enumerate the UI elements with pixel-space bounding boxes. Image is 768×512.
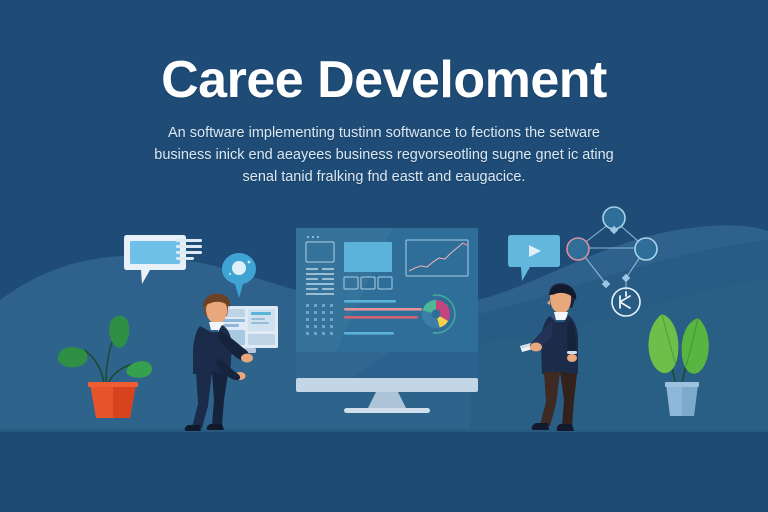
widget-hero-image-panel — [344, 242, 392, 272]
svg-text:.: . — [447, 301, 448, 307]
body-line-3: senal tanid fralking fnd eastt and eauga… — [0, 166, 768, 188]
hero-body-copy: An software implementing tustinn softwan… — [0, 122, 768, 188]
potted-plant-left — [56, 312, 156, 422]
text-lines-icon — [176, 238, 202, 260]
body-line-1: An software implementing tustinn softwan… — [0, 122, 768, 144]
play-bubble-icon[interactable] — [506, 234, 562, 286]
analytics-dashboard-monitor[interactable]: . — [296, 228, 478, 414]
businessman-carrying-screen[interactable] — [178, 288, 282, 434]
hero-text-block: Caree Develoment An software implementin… — [0, 52, 768, 188]
illustration-canvas: Caree Develoment An software implementin… — [0, 0, 768, 512]
potted-plant-right — [640, 292, 720, 422]
businessman-holding-document[interactable] — [520, 282, 600, 434]
page-title: Caree Develoment — [0, 52, 768, 108]
gear-badge-icon[interactable] — [612, 288, 640, 316]
body-line-2: business inick end aeayees business regv… — [0, 144, 768, 166]
